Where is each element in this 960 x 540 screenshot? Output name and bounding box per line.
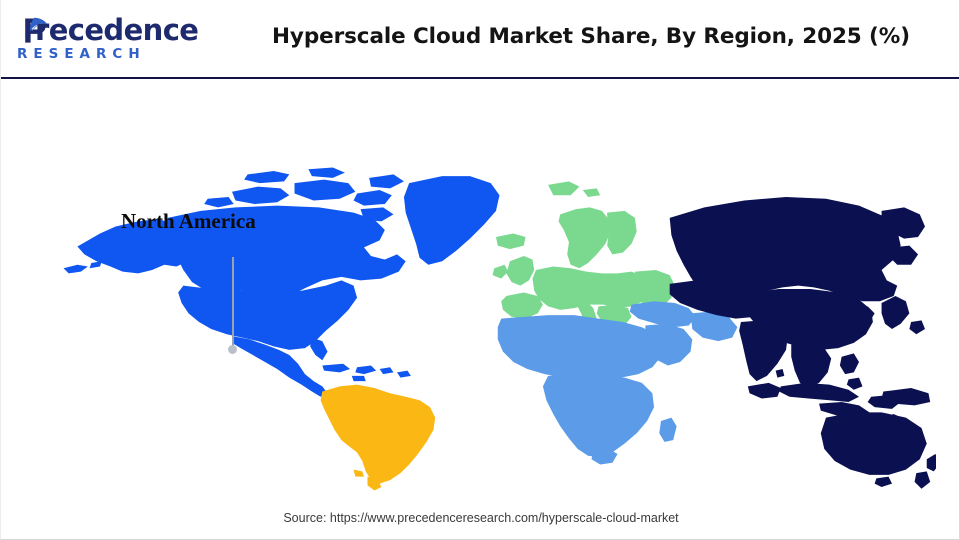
header-bar: recedence RESEARCH Hyperscale Cloud Mark… — [1, 0, 960, 79]
map-region-asia-pacific[interactable] — [670, 197, 936, 489]
infographic-page: recedence RESEARCH Hyperscale Cloud Mark… — [0, 0, 960, 540]
page-title: Hyperscale Cloud Market Share, By Region… — [241, 24, 941, 49]
map-container: North America 46% — [1, 79, 960, 494]
logo-subtitle: RESEARCH — [17, 46, 146, 62]
map-region-middle-east-africa[interactable] — [498, 301, 738, 464]
map-region-north-america[interactable] — [64, 167, 500, 396]
world-choropleth-map — [56, 164, 936, 494]
source-note: Source: https://www.precedenceresearch.c… — [1, 511, 960, 525]
brand-logo[interactable]: recedence RESEARCH — [13, 13, 173, 65]
map-region-latin-america[interactable] — [321, 385, 436, 491]
logo-wordmark: recedence — [35, 13, 198, 47]
